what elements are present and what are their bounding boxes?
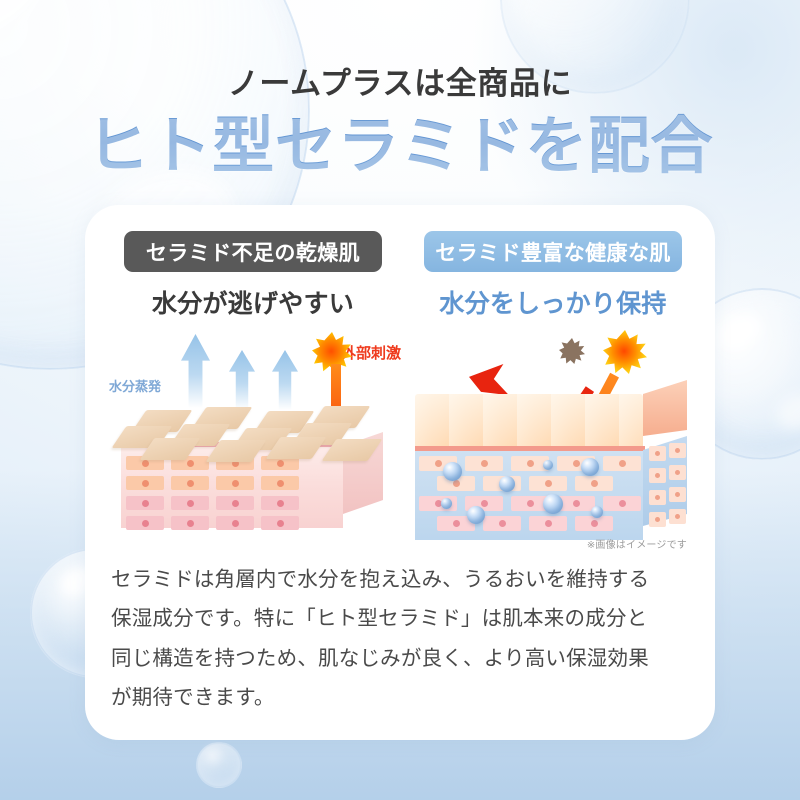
sunburst-icon xyxy=(603,330,647,374)
water-droplet-icon xyxy=(441,498,452,509)
sub-heading: ノームプラスは全商品に xyxy=(0,58,800,103)
evaporation-arrow-icon xyxy=(181,334,210,408)
water-droplet-icon xyxy=(543,460,553,470)
deflected-arrow-head-icon xyxy=(469,364,509,398)
description-paragraph: セラミドは角層内で水分を抱え込み、うるおいを維持する 保湿成分です。特に「ヒト型… xyxy=(111,560,697,717)
pollutant-burst-icon xyxy=(559,338,585,364)
water-droplet-icon xyxy=(543,494,563,514)
skin-block-healthy xyxy=(415,394,687,540)
comparison-card: セラミド不足の乾燥肌 水分が逃げやすい 水分蒸発 外部刺激 xyxy=(85,205,715,740)
water-droplet-icon xyxy=(499,476,515,492)
paragraph-line: が期待できます。 xyxy=(111,678,697,717)
page-title: ヒト型セラミドを配合 xyxy=(0,108,800,186)
panel-dry-skin: セラミド不足の乾燥肌 水分が逃げやすい 水分蒸発 外部刺激 xyxy=(107,231,399,543)
image-disclaimer-note: ※画像はイメージです xyxy=(587,536,687,551)
paragraph-line: 保湿成分です。特に「ヒト型セラミド」は肌本来の成分と xyxy=(111,599,697,638)
label-moisture-evaporation: 水分蒸発 xyxy=(109,376,161,395)
diagram-dry-skin: 水分蒸発 外部刺激 xyxy=(107,328,399,543)
water-droplet-icon xyxy=(591,506,603,518)
diagram-healthy-skin xyxy=(407,328,699,543)
subtitle-dry-skin: 水分が逃げやすい xyxy=(107,284,399,320)
evaporation-arrow-icon xyxy=(272,350,298,410)
water-droplet-icon xyxy=(581,458,599,476)
subtitle-healthy-skin: 水分をしっかり保持 xyxy=(407,284,699,320)
badge-healthy-skin: セラミド豊富な健康な肌 xyxy=(424,231,682,272)
evaporation-arrow-icon xyxy=(229,350,255,410)
panel-healthy-skin: セラミド豊富な健康な肌 水分をしっかり保持 xyxy=(407,231,699,543)
skin-block-dry xyxy=(121,406,383,538)
paragraph-line: セラミドは角層内で水分を抱え込み、うるおいを維持する xyxy=(111,560,697,599)
paragraph-line: 同じ構造を持つため、肌なじみが良く、より高い保湿効果 xyxy=(111,639,697,678)
water-droplet-icon xyxy=(467,506,485,524)
badge-dry-skin: セラミド不足の乾燥肌 xyxy=(124,231,382,272)
water-droplet-icon xyxy=(443,462,462,481)
